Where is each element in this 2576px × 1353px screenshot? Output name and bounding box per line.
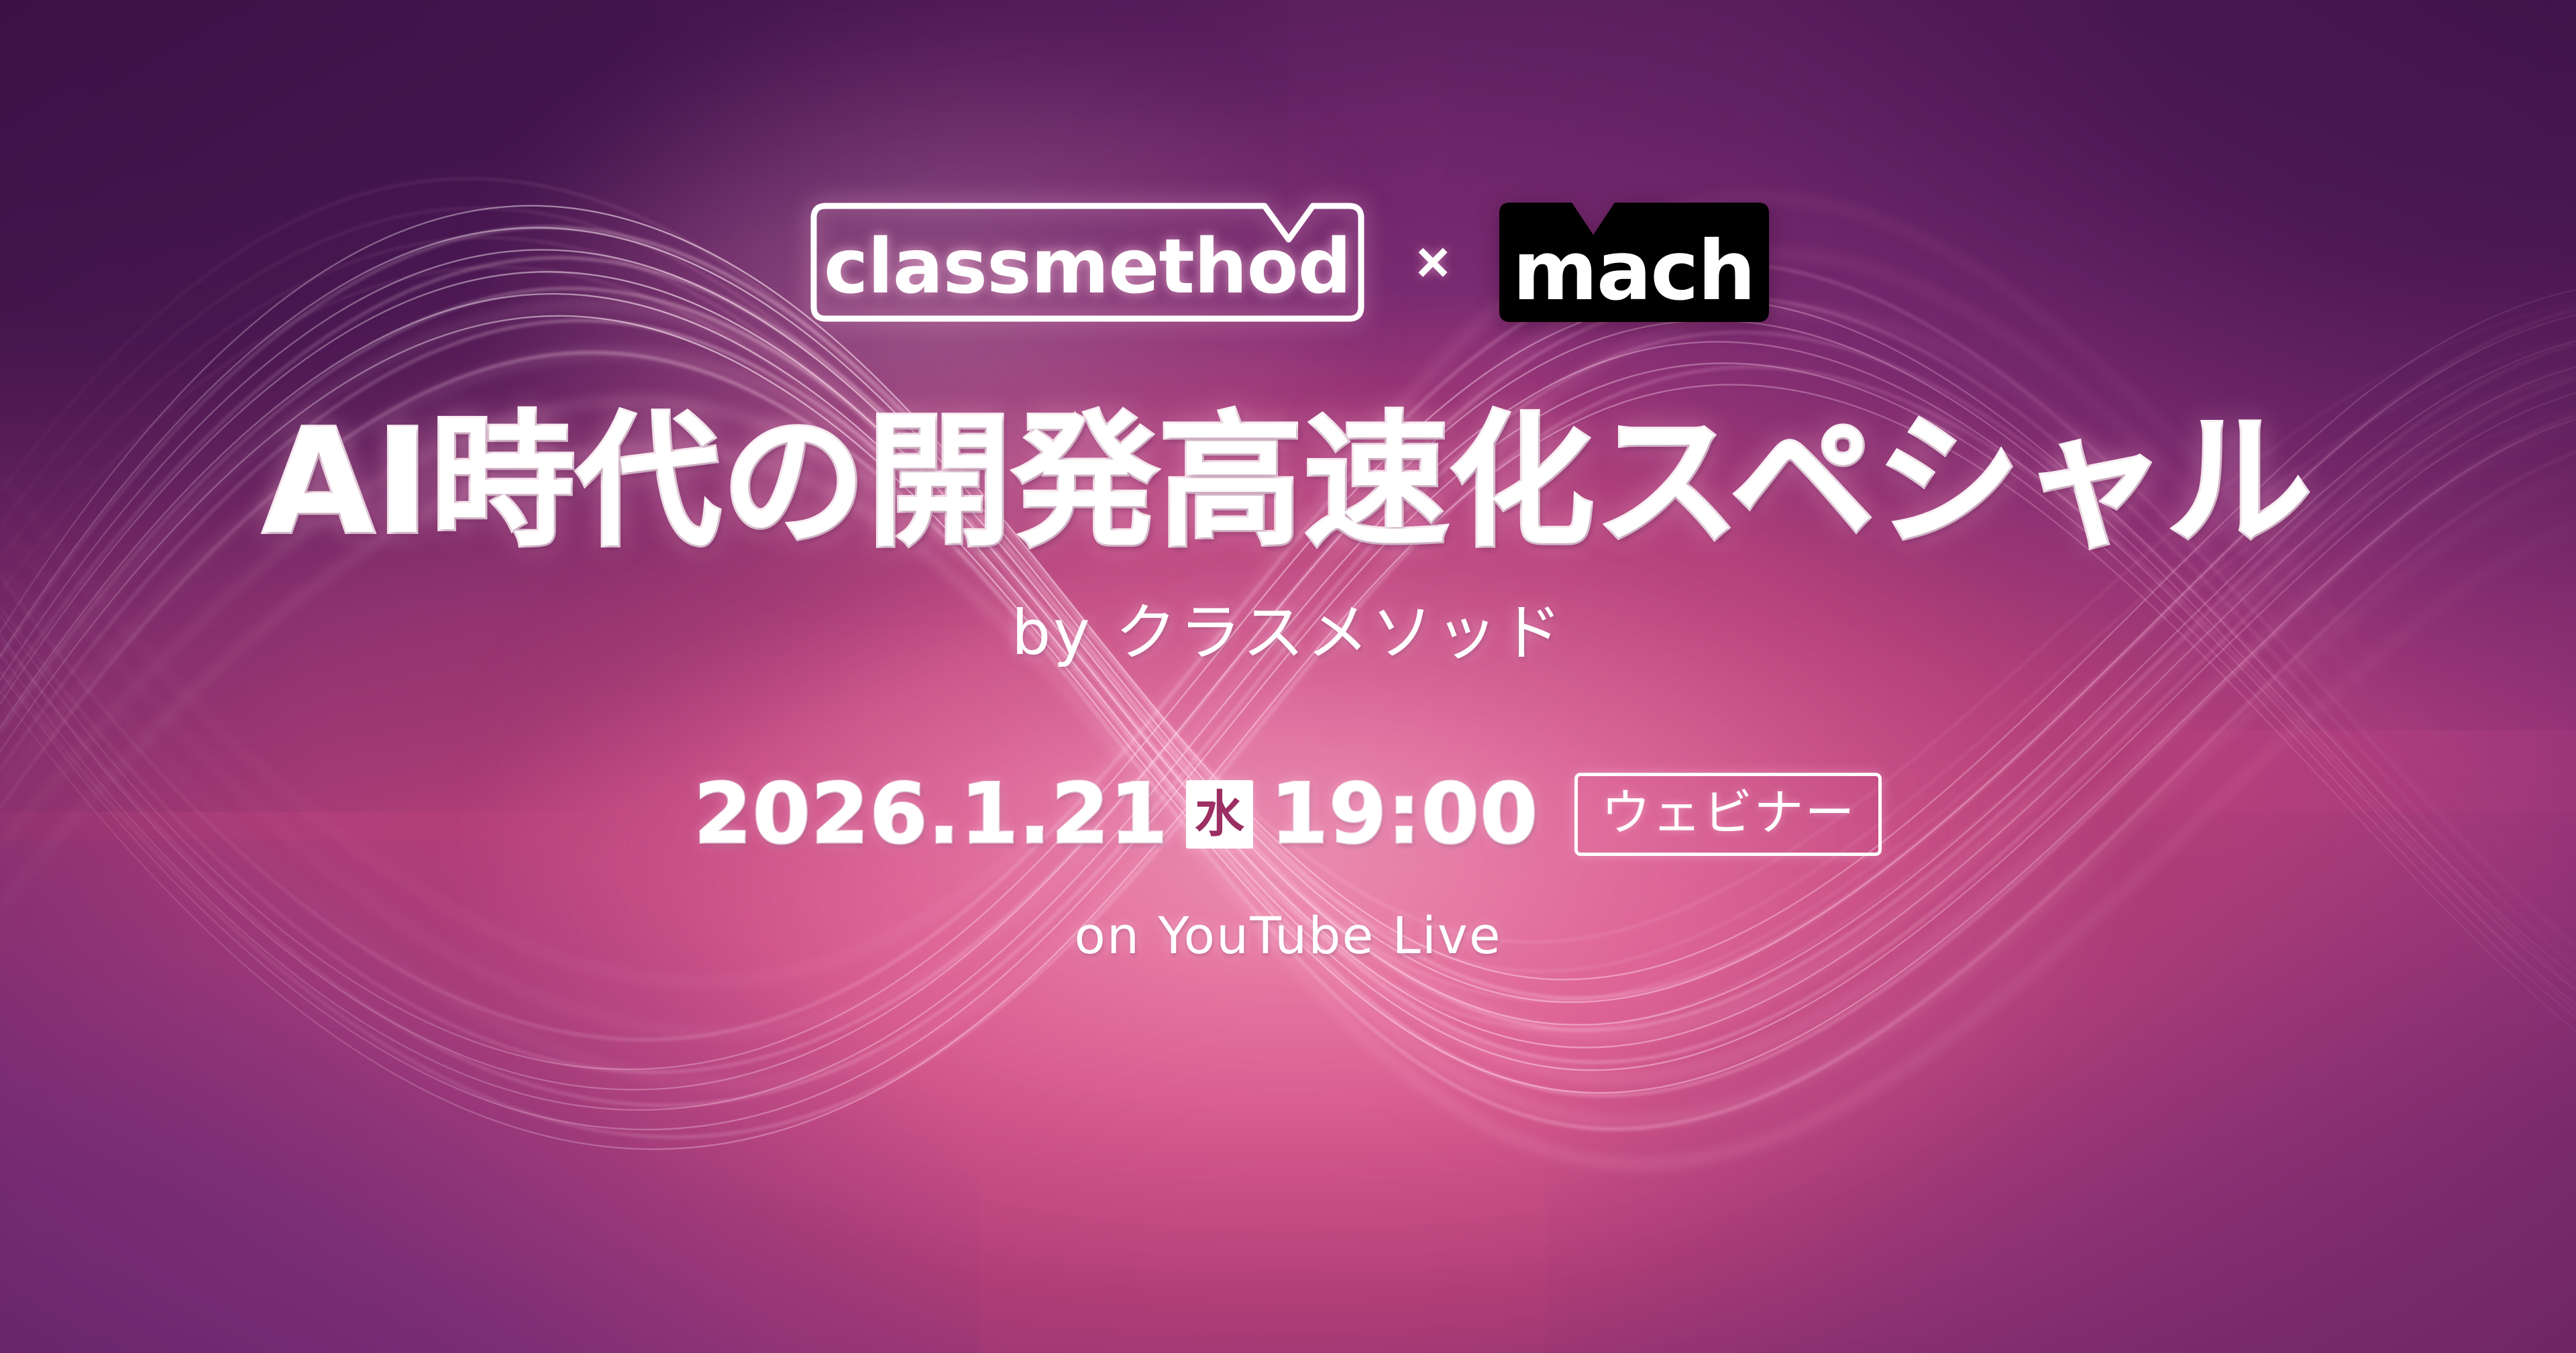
subtitle: by クラスメソッド xyxy=(1012,583,1564,672)
page-title: AI時代の開発高速化スペシャル xyxy=(263,406,2313,559)
banner-content: classmethod × mach AI時代の開発高速化スペシャル by クラ… xyxy=(0,0,2576,1353)
classmethod-wordmark: classmethod xyxy=(802,198,1373,327)
mach-wordmark: mach xyxy=(1493,199,1774,326)
logo-row: classmethod × mach xyxy=(802,198,1774,327)
day-of-week-badge: 水 xyxy=(1186,780,1253,849)
event-date: 2026.1.21 xyxy=(694,766,1169,863)
event-time: 19:00 xyxy=(1271,766,1539,863)
platform-label: on YouTube Live xyxy=(1074,906,1501,965)
mach-logo: mach xyxy=(1493,199,1774,326)
event-banner: classmethod × mach AI時代の開発高速化スペシャル by クラ… xyxy=(0,0,2576,1353)
format-badge: ウェビナー xyxy=(1574,773,1882,856)
classmethod-logo: classmethod xyxy=(802,198,1373,327)
logo-separator-x-icon: × xyxy=(1412,233,1454,291)
schedule-row: 2026.1.21 水 19:00 ウェビナー xyxy=(694,766,1882,863)
